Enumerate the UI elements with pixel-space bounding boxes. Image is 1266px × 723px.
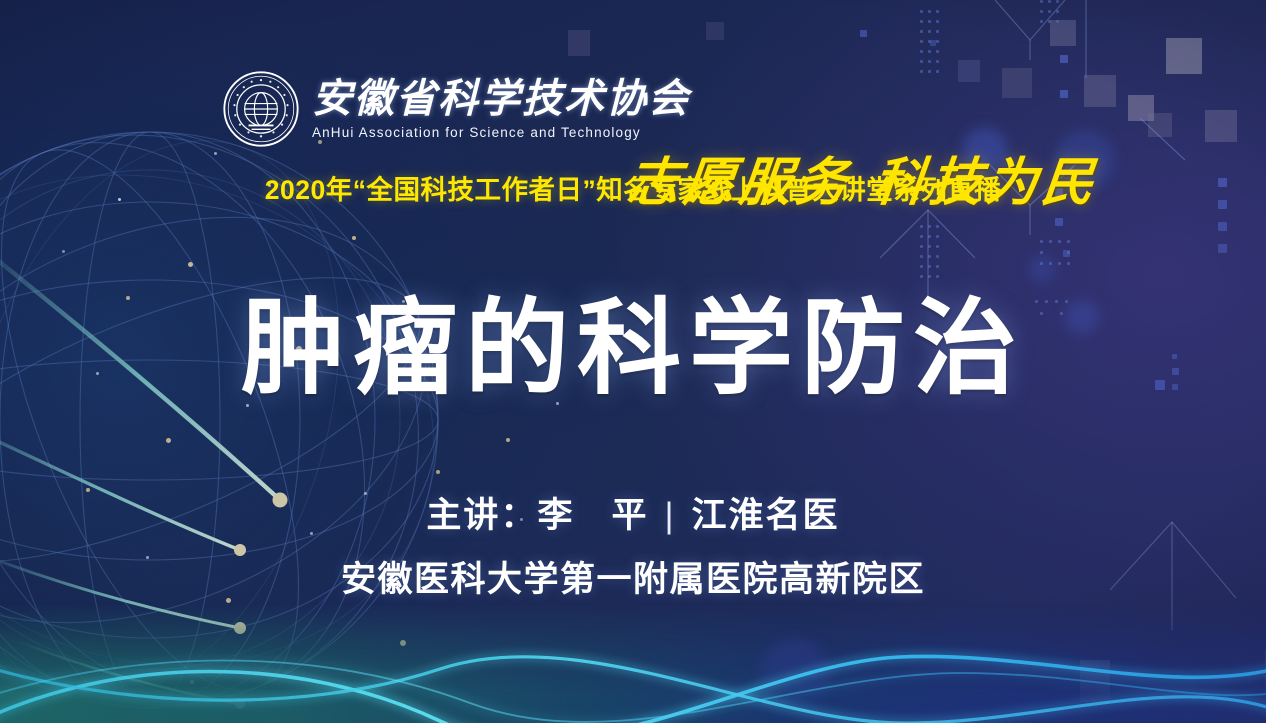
page-title: 肿瘤的科学防治 — [0, 292, 1266, 406]
association-name-en: AnHui Association for Science and Techno… — [312, 126, 690, 140]
association-logo-lockup: 安徽省科学技术协会 AnHui Association for Science … — [222, 70, 690, 148]
bottom-cyan-wave — [0, 603, 1266, 723]
anhui-association-emblem-icon — [222, 70, 300, 148]
speaker-name: 李 平 — [537, 496, 648, 535]
speaker-separator: | — [648, 496, 691, 536]
speaker-line: 主讲：李 平|江淮名医 — [0, 487, 1266, 538]
event-subtitle: 2020年“全国科技工作者日”知名专家线上科普大讲堂系列直播 — [0, 168, 1266, 207]
organization-name: 安徽医科大学第一附属医院高新院区 — [0, 551, 1266, 602]
association-name-cn: 安徽省科学技术协会 — [312, 79, 690, 119]
poster-canvas: 安徽省科学技术协会 AnHui Association for Science … — [0, 0, 1266, 723]
speaker-prefix: 主讲： — [426, 496, 537, 535]
header: 安徽省科学技术协会 AnHui Association for Science … — [0, 66, 1266, 156]
speaker-honorific: 江淮名医 — [692, 496, 840, 535]
